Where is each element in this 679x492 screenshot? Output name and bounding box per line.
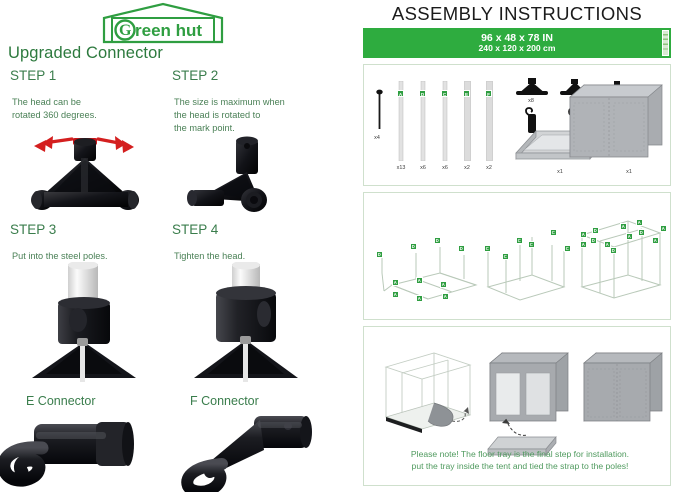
part-pole-c-qty: x6 bbox=[435, 165, 455, 171]
part-pole-e-qty: x2 bbox=[457, 165, 477, 171]
f-connector-label: F Connector bbox=[190, 394, 259, 408]
final-steps-panel: Please note! The floor tray is the final… bbox=[363, 326, 671, 486]
part-tent-body bbox=[564, 83, 668, 174]
frame-marker: C bbox=[516, 237, 523, 244]
frame-marker: A bbox=[416, 277, 423, 284]
frame-marker: A bbox=[652, 237, 659, 244]
e-connector-label: E Connector bbox=[26, 394, 95, 408]
frame-marker: A bbox=[392, 279, 399, 286]
parts-list-panel: x4 A x13 D x6 C bbox=[363, 64, 671, 186]
frame-marker: A bbox=[580, 231, 587, 238]
finish-tent-tray-insert bbox=[484, 349, 576, 464]
ruler-scale-icon bbox=[662, 30, 669, 56]
installation-note: Please note! The floor tray is the final… bbox=[378, 449, 662, 473]
step-3-pole-photo bbox=[28, 262, 144, 389]
frame-marker: D bbox=[590, 237, 597, 244]
assembly-instruction-sheet: G reen hut Upgraded Connector STEP 1 The… bbox=[0, 0, 679, 492]
frame-stage-base bbox=[372, 211, 482, 312]
part-pole-a-qty: x13 bbox=[390, 165, 412, 171]
frame-marker: A bbox=[392, 291, 399, 298]
step-2-description: The size is maximum when the head is rot… bbox=[174, 96, 326, 135]
f-connector-photo bbox=[166, 414, 316, 492]
frame-marker: D bbox=[458, 245, 465, 252]
e-connector-photo bbox=[0, 418, 146, 492]
part-screw bbox=[376, 87, 384, 138]
dimension-metric: 240 x 120 x 200 cm bbox=[479, 44, 556, 54]
step-3-label: STEP 3 bbox=[10, 222, 56, 237]
part-screw-qty: x4 bbox=[368, 135, 386, 141]
frame-stage-uprights bbox=[474, 211, 574, 312]
svg-text:reen hut: reen hut bbox=[135, 21, 202, 40]
step-2-label: STEP 2 bbox=[172, 68, 218, 83]
green-hut-logo-icon: G reen hut bbox=[98, 2, 228, 44]
frame-marker: A bbox=[660, 225, 667, 232]
step-4-pole-photo bbox=[190, 262, 306, 389]
part-tag-e: E bbox=[463, 90, 470, 97]
frame-marker: A bbox=[626, 233, 633, 240]
frame-marker: A bbox=[580, 241, 587, 248]
frame-marker: A bbox=[442, 293, 449, 300]
note-line-1: Please note! The floor tray is the final… bbox=[411, 449, 629, 459]
finish-frame-with-tray bbox=[378, 341, 486, 446]
svg-text:G: G bbox=[119, 22, 132, 39]
frame-marker: C bbox=[528, 241, 535, 248]
part-three-way-large-qty: x8 bbox=[521, 98, 541, 104]
part-tent-body-qty: x1 bbox=[619, 169, 639, 175]
step-2-connector-photo bbox=[178, 132, 293, 219]
part-pole-f-qty: x2 bbox=[479, 165, 499, 171]
frame-marker: C bbox=[564, 245, 571, 252]
step-4-label: STEP 4 bbox=[172, 222, 218, 237]
frame-marker: D bbox=[610, 247, 617, 254]
assembly-instructions-section: ASSEMBLY INSTRUCTIONS 96 x 48 x 78 IN 24… bbox=[355, 0, 679, 492]
frame-marker: C bbox=[502, 253, 509, 260]
part-tag-a: A bbox=[397, 90, 404, 97]
frame-marker: A bbox=[416, 295, 423, 302]
step-1-label: STEP 1 bbox=[10, 68, 56, 83]
upgraded-connector-section: G reen hut Upgraded Connector STEP 1 The… bbox=[0, 0, 350, 492]
step-1-connector-photo bbox=[20, 124, 150, 219]
frame-marker: D bbox=[638, 229, 645, 236]
frame-assembly-panel: D D D D A A A A A A bbox=[363, 192, 671, 320]
frame-marker: C bbox=[550, 229, 557, 236]
frame-marker: A bbox=[620, 223, 627, 230]
frame-marker: D bbox=[592, 227, 599, 234]
part-tag-d: D bbox=[419, 90, 426, 97]
frame-marker: A bbox=[636, 219, 643, 226]
step-1-description: The head can be rotated 360 degrees. bbox=[12, 96, 162, 122]
part-tag-c: C bbox=[441, 90, 448, 97]
frame-marker: C bbox=[484, 245, 491, 252]
section-title: Upgraded Connector bbox=[8, 44, 163, 63]
frame-marker: D bbox=[434, 237, 441, 244]
frame-marker: D bbox=[376, 251, 383, 258]
frame-marker: A bbox=[440, 281, 447, 288]
note-line-2: put the tray inside the tent and tied th… bbox=[412, 461, 629, 471]
finish-tent-closed bbox=[578, 349, 670, 446]
part-pole-d-qty: x6 bbox=[413, 165, 433, 171]
frame-marker: D bbox=[410, 243, 417, 250]
dimension-banner: 96 x 48 x 78 IN 240 x 120 x 200 cm bbox=[363, 28, 671, 58]
assembly-heading: ASSEMBLY INSTRUCTIONS bbox=[355, 3, 679, 25]
part-tag-f: F bbox=[485, 90, 492, 97]
